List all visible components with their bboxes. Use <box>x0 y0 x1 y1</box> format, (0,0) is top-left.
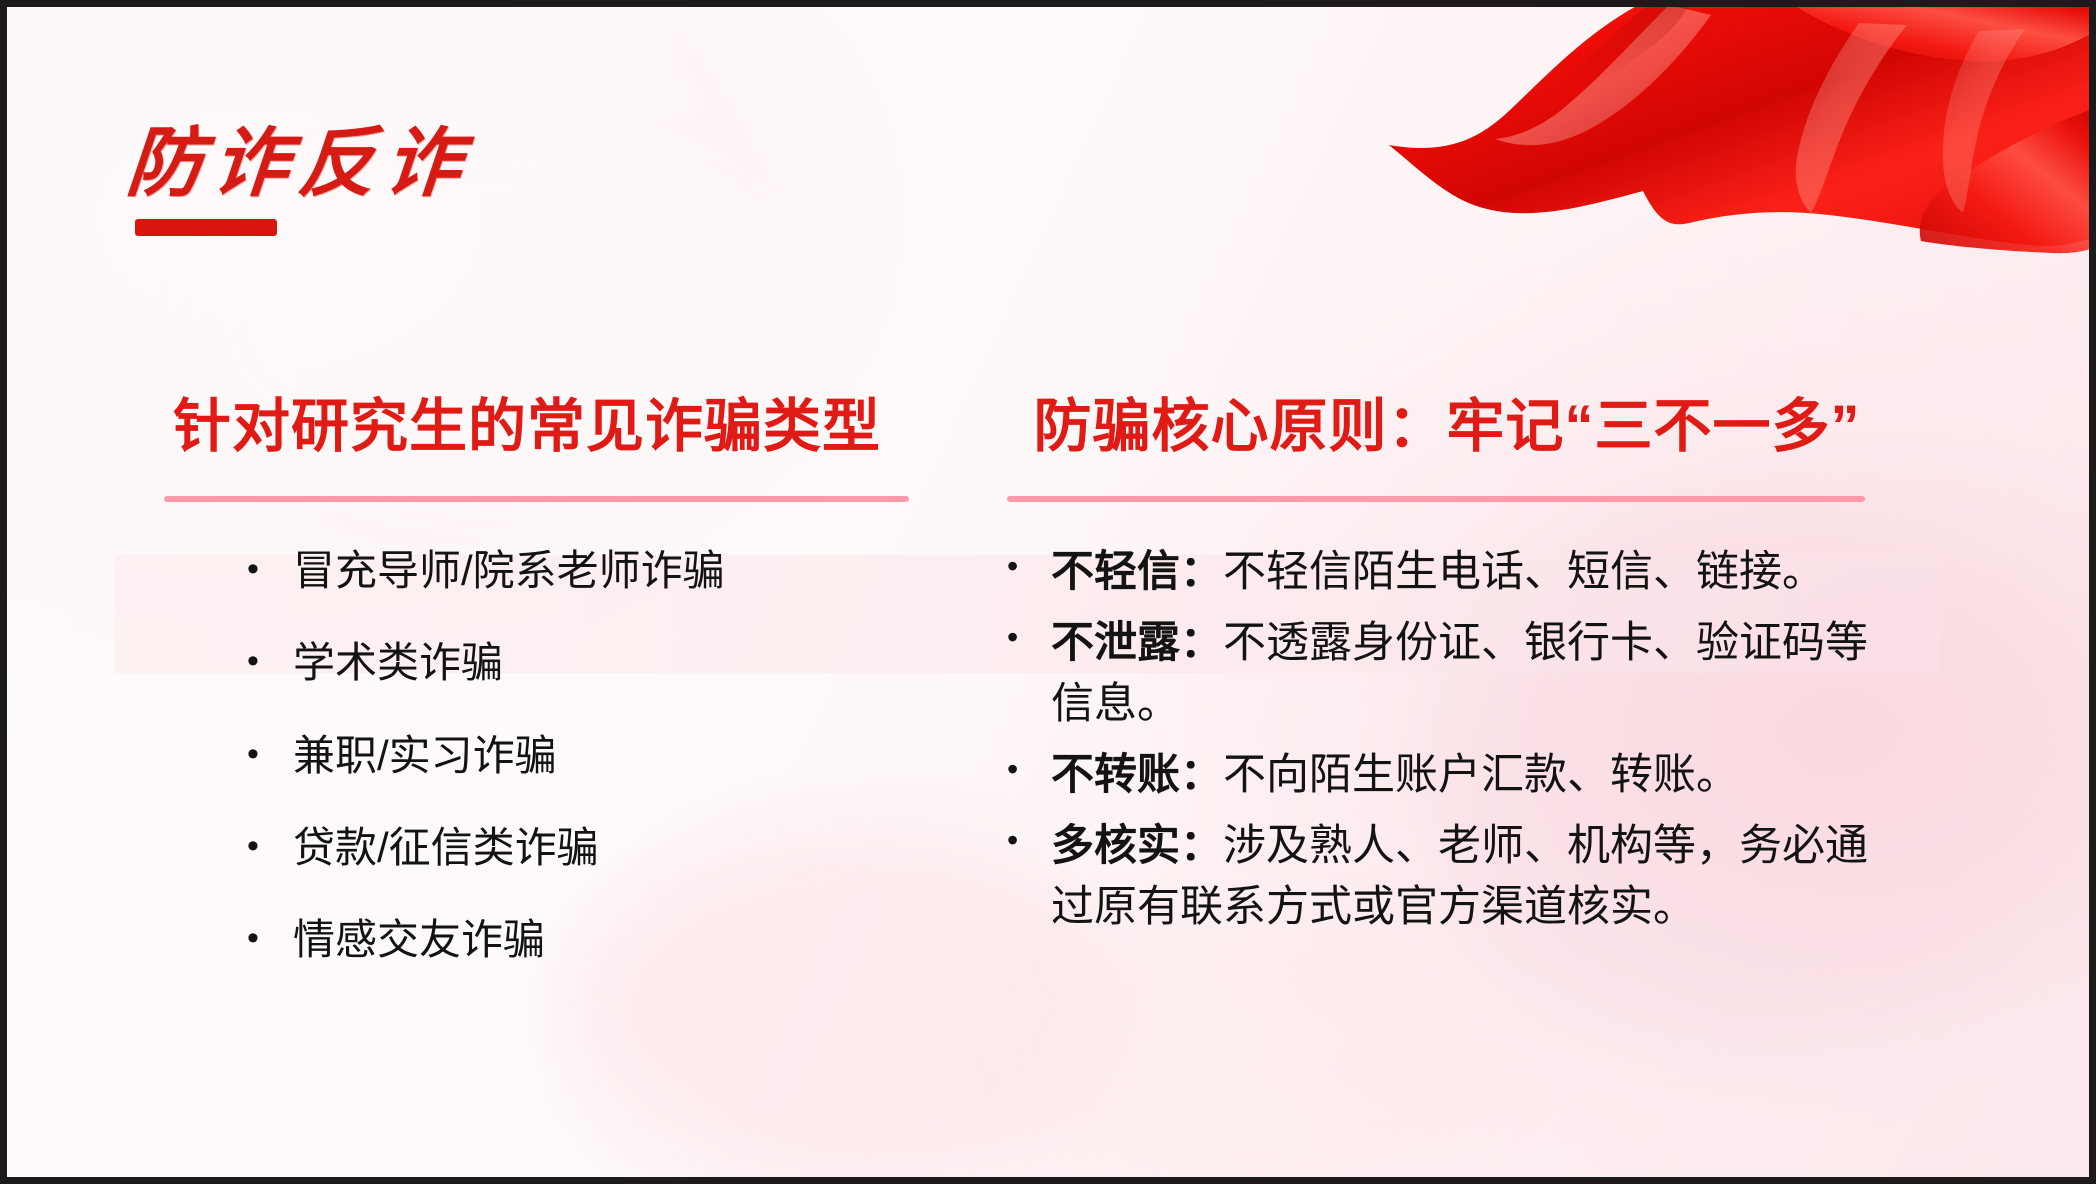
left-column-divider <box>164 496 909 502</box>
bullet-icon: • <box>247 640 293 678</box>
principle-separator: ： <box>1180 619 1223 667</box>
left-column: 针对研究生的常见诈骗类型 • 冒充导师/院系老师诈骗 • 学术类诈骗 • 兼职/… <box>147 395 907 1010</box>
list-item-label: 贷款/征信类诈骗 <box>293 825 907 870</box>
prevention-principles-list: • 不轻信：不轻信陌生电话、短信、链接。 • 不泄露：不透露身份证、银行卡、验证… <box>1007 542 1887 938</box>
principle-detail: 不轻信陌生电话、短信、链接。 <box>1223 548 1825 596</box>
title-block: 防诈反诈 <box>127 125 471 236</box>
list-item-label: 情感交友诈骗 <box>293 917 907 962</box>
bullet-icon: • <box>247 548 293 586</box>
principle-separator: ： <box>1180 548 1223 596</box>
list-item: • 情感交友诈骗 <box>247 917 907 962</box>
bullet-icon: • <box>1007 816 1051 856</box>
fraud-types-list: • 冒充导师/院系老师诈骗 • 学术类诈骗 • 兼职/实习诈骗 • 贷款/征信类… <box>147 548 907 963</box>
principle-term: 多核实 <box>1051 822 1180 870</box>
principle-separator: ： <box>1180 822 1223 870</box>
list-item-label: 学术类诈骗 <box>293 640 907 685</box>
bullet-icon: • <box>1007 613 1051 653</box>
list-item: • 兼职/实习诈骗 <box>247 733 907 778</box>
right-column: 防骗核心原则：牢记“三不一多” • 不轻信：不轻信陌生电话、短信、链接。 • 不… <box>1007 395 1887 948</box>
ribbon-shape-fold-upper <box>1779 7 2089 61</box>
list-item: • 冒充导师/院系老师诈骗 <box>247 548 907 593</box>
principle-line: 多核实：涉及熟人、老师、机构等，务必通过原有联系方式或官方渠道核实。 <box>1051 816 1887 938</box>
slide-canvas: 防诈反诈 针对研究生的常见诈骗类型 • 冒充导师/院系老师诈骗 • 学术类诈骗 … <box>7 7 2089 1177</box>
ribbon-shadow <box>1549 7 1693 93</box>
principle-line: 不泄露：不透露身份证、银行卡、验证码等信息。 <box>1051 613 1887 735</box>
list-item: • 不轻信：不轻信陌生电话、短信、链接。 <box>1007 542 1887 603</box>
list-item: • 不泄露：不透露身份证、银行卡、验证码等信息。 <box>1007 613 1887 735</box>
principle-separator: ： <box>1180 751 1223 799</box>
right-column-heading: 防骗核心原则：牢记“三不一多” <box>1007 395 1887 460</box>
bullet-icon: • <box>247 917 293 955</box>
left-column-heading: 针对研究生的常见诈骗类型 <box>147 395 907 460</box>
principle-detail: 不向陌生账户汇款、转账。 <box>1223 751 1739 799</box>
list-item: • 学术类诈骗 <box>247 640 907 685</box>
principle-term: 不泄露 <box>1051 619 1180 667</box>
right-column-divider <box>1007 496 1865 502</box>
list-item: • 贷款/征信类诈骗 <box>247 825 907 870</box>
presentation-slide: 防诈反诈 针对研究生的常见诈骗类型 • 冒充导师/院系老师诈骗 • 学术类诈骗 … <box>0 0 2096 1184</box>
bullet-icon: • <box>247 733 293 771</box>
ribbon-highlight <box>1495 7 1711 145</box>
ribbon-shape-main <box>1389 7 2089 246</box>
list-item-label: 兼职/实习诈骗 <box>293 733 907 778</box>
bullet-icon: • <box>1007 542 1051 582</box>
ribbon-shape-tail <box>1920 107 2089 253</box>
ribbon-highlight <box>1943 29 2025 213</box>
list-item: • 不转账：不向陌生账户汇款、转账。 <box>1007 745 1887 806</box>
principle-line: 不转账：不向陌生账户汇款、转账。 <box>1051 745 1887 806</box>
principle-term: 不轻信 <box>1051 548 1180 596</box>
page-title: 防诈反诈 <box>124 125 475 201</box>
red-silk-ribbon-icon <box>1359 7 2089 285</box>
ribbon-highlight <box>1796 23 1907 213</box>
list-item: • 多核实：涉及熟人、老师、机构等，务必通过原有联系方式或官方渠道核实。 <box>1007 816 1887 938</box>
title-underline <box>135 219 277 236</box>
bullet-icon: • <box>1007 745 1051 785</box>
bullet-icon: • <box>247 825 293 863</box>
principle-term: 不转账 <box>1051 751 1180 799</box>
list-item-label: 冒充导师/院系老师诈骗 <box>293 548 907 593</box>
principle-line: 不轻信：不轻信陌生电话、短信、链接。 <box>1051 542 1887 603</box>
